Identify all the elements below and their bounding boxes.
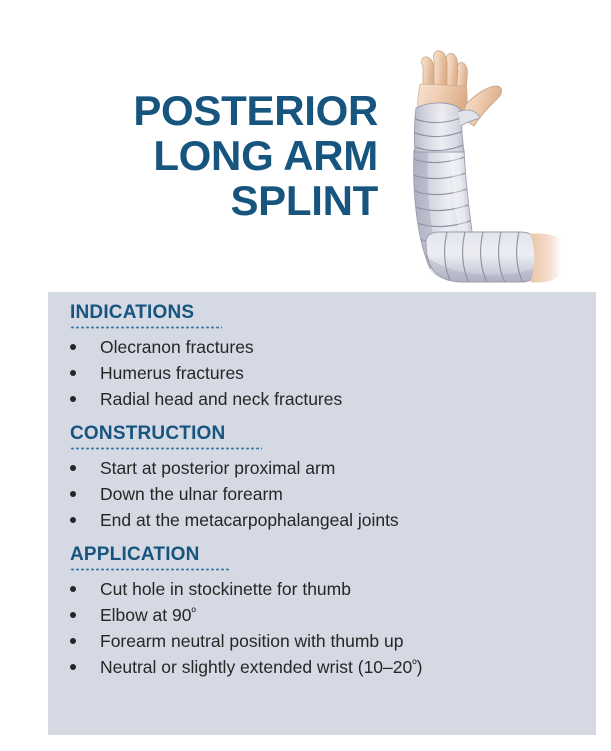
section-header-indications: INDICATIONS	[70, 302, 194, 324]
bullet-icon	[70, 612, 76, 618]
list-item: Down the ulnar forearm	[70, 481, 399, 507]
bullet-icon	[70, 344, 76, 350]
section-divider-application	[70, 568, 230, 571]
list-item-label: Neutral or slightly extended wrist (10–2…	[100, 657, 422, 677]
bullet-icon	[70, 491, 76, 497]
list-item: Radial head and neck fractures	[70, 386, 342, 412]
page-title-line-1: POSTERIOR	[60, 88, 378, 133]
page-title-line-2: LONG ARM	[60, 133, 378, 178]
list-item-label: Humerus fractures	[100, 363, 244, 383]
upper-arm-skin	[530, 233, 562, 282]
section-application: APPLICATION Cut hole in stockinette for …	[70, 544, 422, 680]
cast-upper-arm	[426, 228, 536, 284]
list-item-label: Elbow at 90º	[100, 605, 196, 625]
application-list: Cut hole in stockinette for thumb Elbow …	[70, 576, 422, 680]
bullet-icon	[70, 638, 76, 644]
list-item-label: End at the metacarpophalangeal joints	[100, 510, 399, 530]
list-item-label: Radial head and neck fractures	[100, 389, 342, 409]
section-indications: INDICATIONS Olecranon fractures Humerus …	[70, 302, 342, 412]
bullet-icon	[70, 396, 76, 402]
list-item: Olecranon fractures	[70, 334, 342, 360]
section-header-application: APPLICATION	[70, 544, 200, 566]
list-item: Forearm neutral position with thumb up	[70, 628, 422, 654]
splint-illustration	[392, 46, 562, 284]
list-item-label: Down the ulnar forearm	[100, 484, 283, 504]
list-item-label: Start at posterior proximal arm	[100, 458, 335, 478]
bullet-icon	[70, 586, 76, 592]
bullet-icon	[70, 370, 76, 376]
list-item-label: Forearm neutral position with thumb up	[100, 631, 403, 651]
list-item: Start at posterior proximal arm	[70, 455, 399, 481]
cast-hand-wrap	[408, 103, 480, 152]
list-item-label: Cut hole in stockinette for thumb	[100, 579, 351, 599]
section-divider-indications	[70, 326, 222, 329]
info-panel: INDICATIONS Olecranon fractures Humerus …	[48, 292, 596, 735]
page-title-line-3: SPLINT	[60, 178, 378, 223]
list-item: Elbow at 90º	[70, 602, 422, 628]
section-divider-construction	[70, 447, 262, 450]
section-construction: CONSTRUCTION Start at posterior proximal…	[70, 423, 399, 533]
list-item: Neutral or slightly extended wrist (10–2…	[70, 654, 422, 680]
section-header-construction: CONSTRUCTION	[70, 423, 225, 445]
indications-list: Olecranon fractures Humerus fractures Ra…	[70, 334, 342, 412]
list-item: Humerus fractures	[70, 360, 342, 386]
list-item: End at the metacarpophalangeal joints	[70, 507, 399, 533]
page-title: POSTERIOR LONG ARM SPLINT	[60, 88, 378, 223]
list-item-label: Olecranon fractures	[100, 337, 254, 357]
bullet-icon	[70, 517, 76, 523]
bullet-icon	[70, 664, 76, 670]
bullet-icon	[70, 465, 76, 471]
list-item: Cut hole in stockinette for thumb	[70, 576, 422, 602]
construction-list: Start at posterior proximal arm Down the…	[70, 455, 399, 533]
